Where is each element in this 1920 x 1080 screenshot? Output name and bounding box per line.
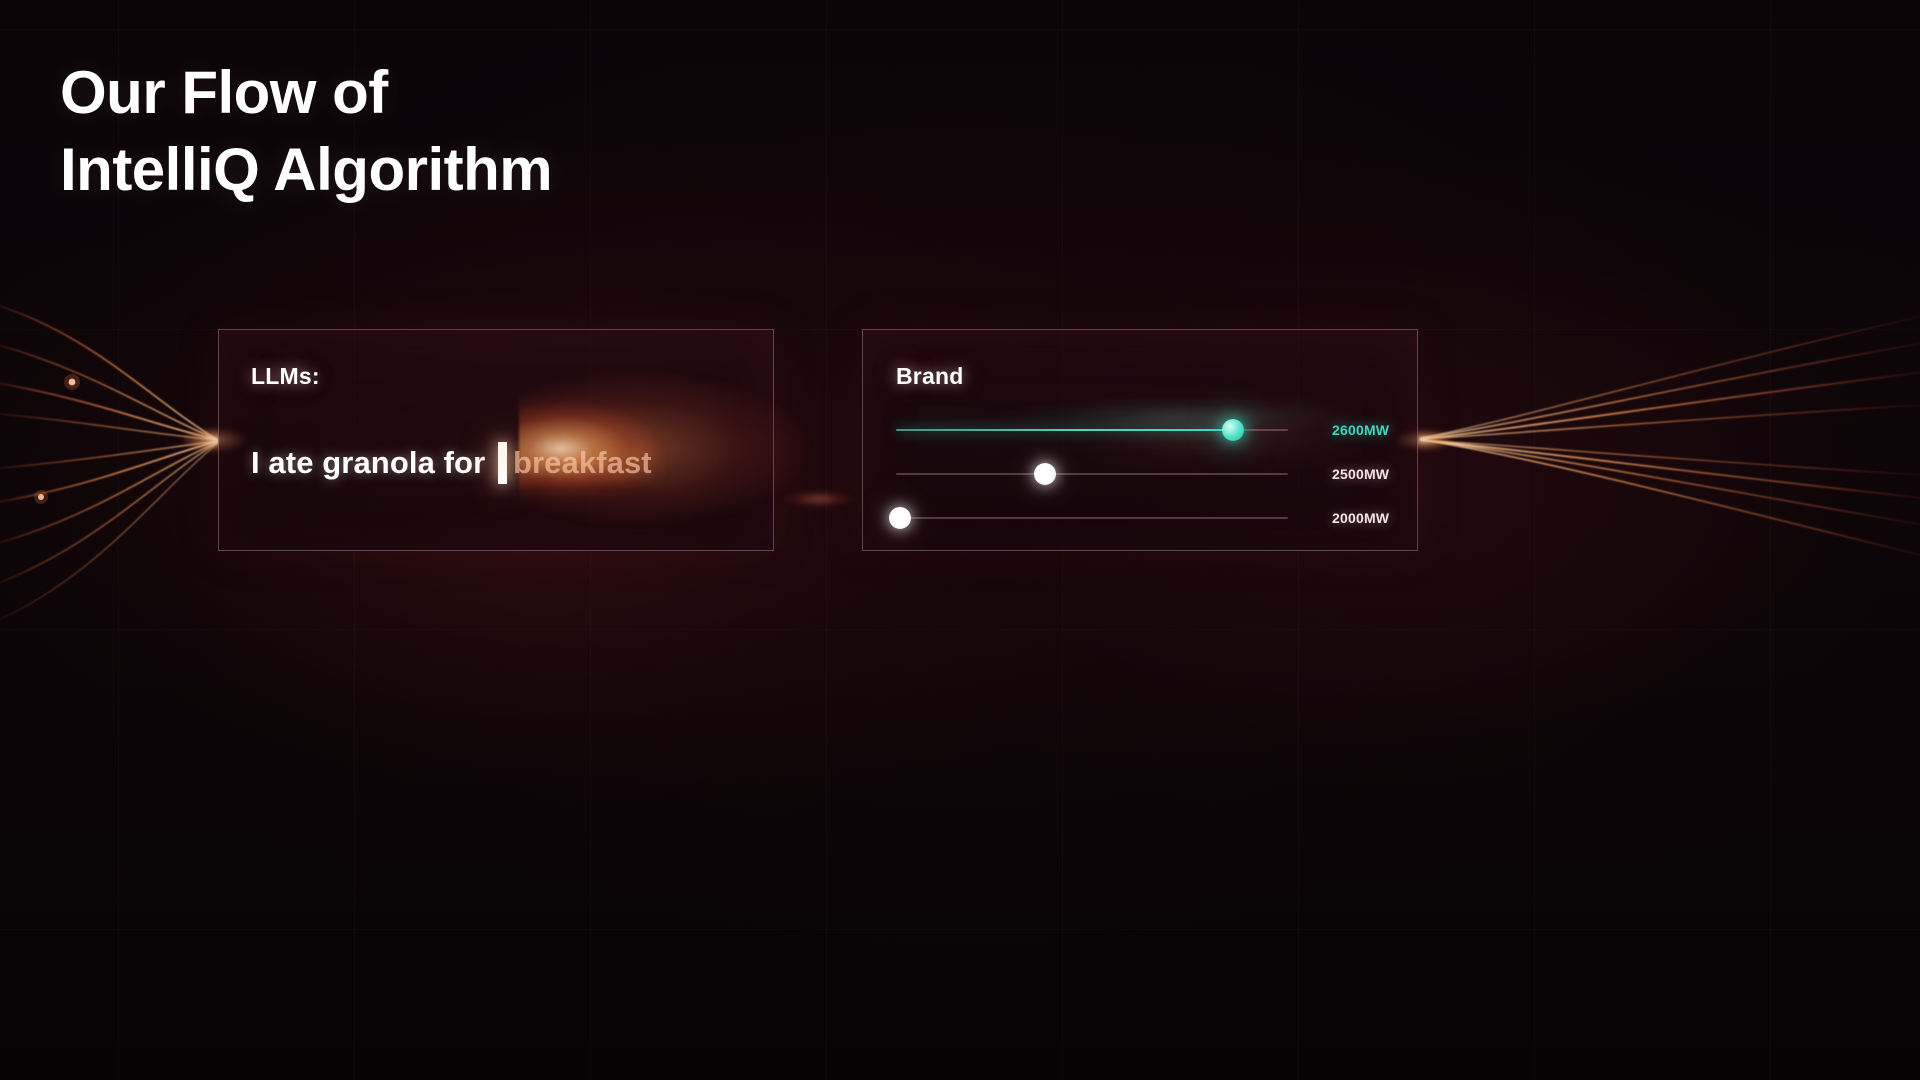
slider-knob-2600[interactable] [1222,419,1244,441]
slider-knob-2500[interactable] [1034,463,1056,485]
llm-predicted-text: breakfast [513,445,652,481]
brand-panel-label: Brand [896,363,963,390]
slider-value-2500: 2500MW [1332,466,1389,482]
slider-row-2000[interactable]: 2000MW [896,496,1386,540]
slider-track-2500[interactable] [896,473,1288,475]
slider-track-2600[interactable] [896,429,1288,431]
slider-glow-haze [886,390,1356,444]
slider-row-2600[interactable]: 2600MW [896,408,1386,452]
llm-panel: LLMs: I ate granola for breakfast [218,329,774,551]
llm-sentence: I ate granola for breakfast [251,442,652,484]
brand-panel: Brand 2600MW 2500MW [862,329,1418,551]
slider-row-2500[interactable]: 2500MW [896,452,1386,496]
panel-connector-glow [774,470,864,528]
slider-value-2000: 2000MW [1332,510,1389,526]
llm-panel-label: LLMs: [251,363,320,390]
slider-knob-2000[interactable] [889,507,911,529]
page-title: Our Flow of IntelliQ Algorithm [60,55,552,209]
brand-slider-group: 2600MW 2500MW 2000MW [896,408,1386,540]
slider-track-2000[interactable] [896,517,1288,519]
text-caret-icon [498,442,507,484]
slider-value-2600: 2600MW [1332,422,1389,438]
slide-canvas: Our Flow of IntelliQ Algorithm LLMs: I a… [0,0,1920,1080]
llm-typed-text: I ate granola for [251,445,494,481]
slider-fill-2600 [896,429,1233,431]
